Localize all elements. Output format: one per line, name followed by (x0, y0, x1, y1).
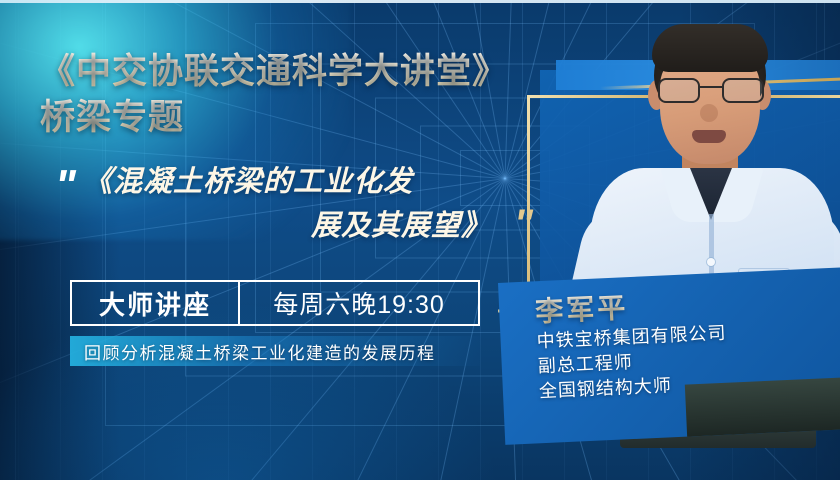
lecture-tagline-text: 回顾分析混凝土桥梁工业化建造的发展历程 (70, 339, 436, 364)
glasses-bridge (700, 86, 722, 88)
lecture-tagline-bar: 回顾分析混凝土桥梁工业化建造的发展历程 (70, 336, 480, 366)
speaker-info-text: 李军平 中铁宝桥集团有限公司 副总工程师 全国钢结构大师 (535, 287, 730, 405)
lecture-schedule: 每周六晚19:30 (240, 282, 478, 324)
speaker-info-card: 李军平 中铁宝桥集团有限公司 副总工程师 全国钢结构大师 (498, 267, 840, 445)
quote-open-mark: " (55, 164, 76, 208)
top-light-strip (0, 0, 840, 3)
poster-canvas: 《中交协联交通科学大讲堂》 桥梁专题 " 《混凝土桥梁的工业化发 展及其展望》 … (0, 0, 840, 480)
quote-line-1: 《混凝土桥梁的工业化发 (83, 160, 503, 204)
glasses-icon (654, 78, 770, 104)
photo-hair-fringe (652, 24, 768, 72)
headline-line-2: 桥梁专题 (40, 96, 560, 140)
photo-nose (700, 104, 718, 122)
quote-close-mark: " (514, 204, 533, 244)
background-bottom-glow (0, 300, 500, 480)
quote-text: 《混凝土桥梁的工业化发 展及其展望》 (83, 160, 503, 248)
lecture-info-box: 大师讲座 每周六晚19:30 (70, 280, 480, 326)
page-title: 《中交协联交通科学大讲堂》 桥梁专题 (40, 50, 560, 140)
glasses-lens-right (722, 78, 764, 103)
glasses-lens-left (658, 78, 700, 103)
photo-mouth (692, 130, 726, 143)
photo-shirt-button (707, 258, 715, 266)
quote-line-2: 展及其展望》 (83, 204, 503, 248)
lecture-topic-quote: " 《混凝土桥梁的工业化发 展及其展望》 " (55, 160, 525, 265)
headline-line-1: 《中交协联交通科学大讲堂》 (40, 50, 560, 94)
lecture-type-label: 大师讲座 (72, 282, 238, 324)
